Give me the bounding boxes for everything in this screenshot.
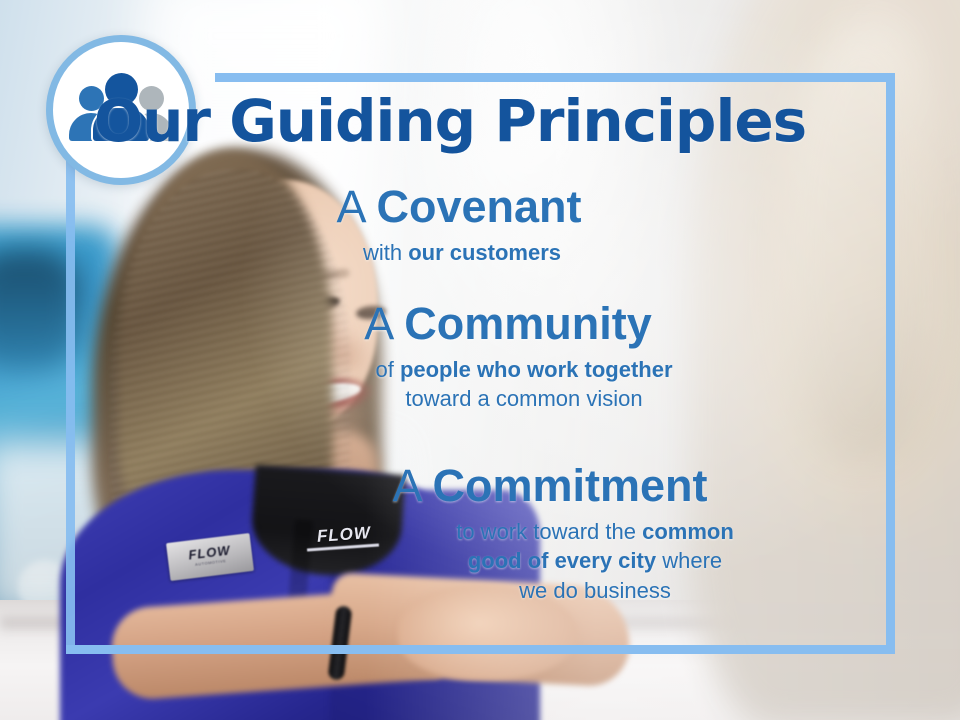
page-title: Our Guiding Principles — [0, 92, 900, 150]
subtext-plain: where — [656, 548, 722, 573]
subtext-emphasis: common — [642, 519, 734, 544]
principle-article: A — [392, 460, 432, 511]
principle-subtext-line: good of every city where — [290, 546, 900, 575]
principle-subtext: to work toward the commongood of every c… — [290, 517, 900, 605]
principle-subtext-line: we do business — [290, 576, 900, 605]
principle-keyword: Covenant — [377, 181, 582, 232]
principle-subtext-line: of people who work together — [148, 355, 900, 384]
subtext-emphasis: our customers — [408, 240, 561, 265]
subtext-plain: with — [363, 240, 408, 265]
principle-subtext-line: to work toward the common — [290, 517, 900, 546]
principle-headline: A Commitment — [200, 462, 900, 510]
subtext-emphasis: people who work together — [400, 357, 673, 382]
principle-block-commitment: A Commitment to work toward the commongo… — [0, 462, 900, 605]
principle-headline: A Covenant — [18, 183, 900, 231]
principle-subtext: of people who work togethertoward a comm… — [148, 355, 900, 414]
principle-subtext: with our customers — [24, 238, 900, 267]
principle-article: A — [364, 298, 404, 349]
subtext-plain: we do business — [519, 578, 671, 603]
subtext-plain: toward a common vision — [405, 386, 642, 411]
principle-subtext-line: toward a common vision — [148, 384, 900, 413]
principle-subtext-line: with our customers — [24, 238, 900, 267]
principle-block-covenant: A Covenant with our customers — [0, 183, 900, 267]
principle-keyword: Commitment — [433, 460, 708, 511]
principle-keyword: Community — [404, 298, 652, 349]
subtext-emphasis: good of every city — [468, 548, 656, 573]
principle-headline: A Community — [116, 300, 900, 348]
guiding-principles-banner: FLOW AUTOMOTIVE FLOW — [0, 0, 960, 720]
subtext-plain: to work toward the — [456, 519, 642, 544]
principle-article: A — [336, 181, 376, 232]
banner-text: Our Guiding Principles A Covenant with o… — [0, 0, 960, 720]
principle-block-community: A Community of people who work togethert… — [0, 300, 900, 414]
subtext-plain: of — [375, 357, 399, 382]
